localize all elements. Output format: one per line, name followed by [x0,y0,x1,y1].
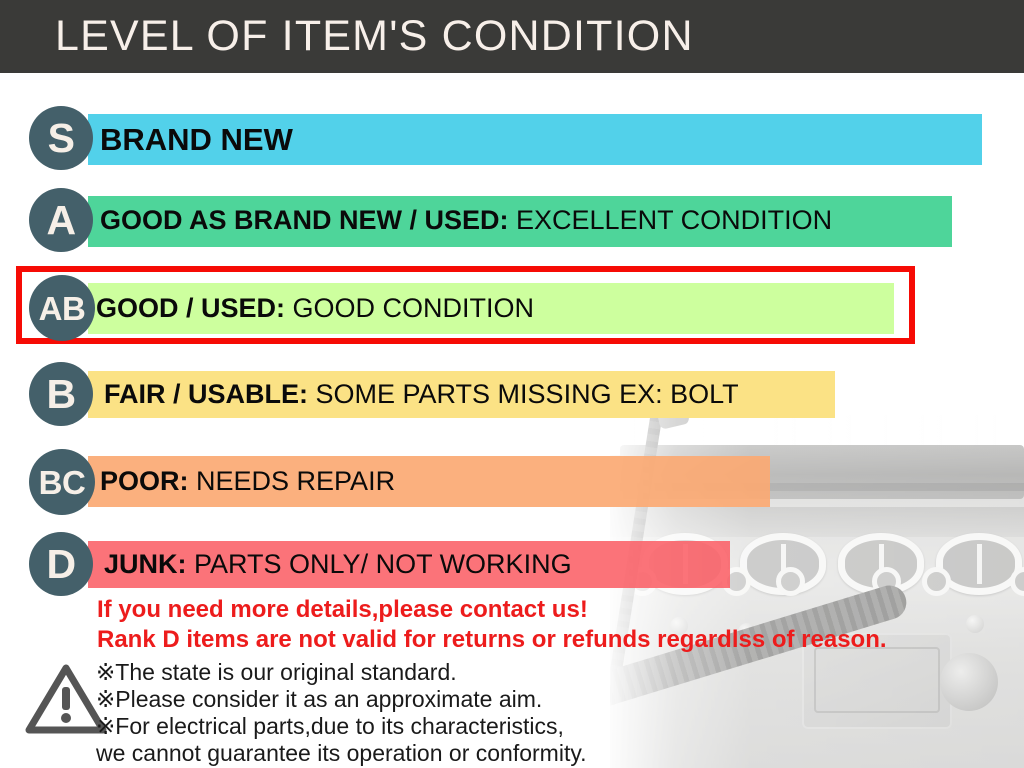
rank-text-bc-tail: NEEDS REPAIR [189,466,396,496]
rank-badge-s-label: S [48,118,75,159]
condition-chart-page: LEVEL OF ITEM'S CONDITION S A AB B BC D … [0,0,1024,768]
disclaimer-line-2: ※Please consider it as an approximate ai… [96,686,587,713]
rank-text-bc: POOR: NEEDS REPAIR [100,468,395,495]
disclaimer-line-1: ※The state is our original standard. [96,659,587,686]
rank-text-a: GOOD AS BRAND NEW / USED: EXCELLENT COND… [100,207,832,234]
rank-text-ab-lead: GOOD / USED: [96,293,285,323]
rank-badge-a-label: A [46,200,75,241]
rank-text-d: JUNK: PARTS ONLY/ NOT WORKING [104,551,572,578]
rank-text-ab-tail: GOOD CONDITION [285,293,534,323]
rank-text-ab: GOOD / USED: GOOD CONDITION [96,295,534,322]
page-header: LEVEL OF ITEM'S CONDITION [0,0,1024,73]
disclaimer-line-3: ※For electrical parts,due to its charact… [96,713,587,740]
rank-badge-ab: AB [29,275,95,341]
rank-text-b-lead: FAIR / USABLE: [104,379,308,409]
rank-badge-d: D [29,532,93,596]
rank-text-b: FAIR / USABLE: SOME PARTS MISSING EX: BO… [104,381,739,408]
rank-badge-ab-label: AB [39,292,86,325]
rank-badge-d-label: D [46,544,75,585]
rank-d-returns-notice: Rank D items are not valid for returns o… [97,628,887,652]
rank-badge-b: B [29,362,93,426]
rank-badge-a: A [29,188,93,252]
rank-text-b-tail: SOME PARTS MISSING EX: BOLT [308,379,739,409]
rank-text-d-tail: PARTS ONLY/ NOT WORKING [187,549,572,579]
rank-badge-s: S [29,106,93,170]
rank-badge-bc-label: BC [39,466,86,499]
rank-badge-bc: BC [29,449,95,515]
rank-text-a-lead: GOOD AS BRAND NEW / USED: [100,205,509,235]
page-title: LEVEL OF ITEM'S CONDITION [55,12,694,61]
rank-text-bc-lead: POOR: [100,466,189,496]
disclaimer-notes: ※The state is our original standard. ※Pl… [96,659,587,767]
rank-text-s-lead: BRAND NEW [100,122,293,157]
rank-text-a-tail: EXCELLENT CONDITION [509,205,833,235]
rank-text-d-lead: JUNK: [104,549,187,579]
contact-notice: If you need more details,please contact … [97,598,588,622]
disclaimer-line-4: we cannot guarantee its operation or con… [96,740,587,767]
rank-text-s: BRAND NEW [100,124,293,155]
rank-badge-b-label: B [46,374,75,415]
